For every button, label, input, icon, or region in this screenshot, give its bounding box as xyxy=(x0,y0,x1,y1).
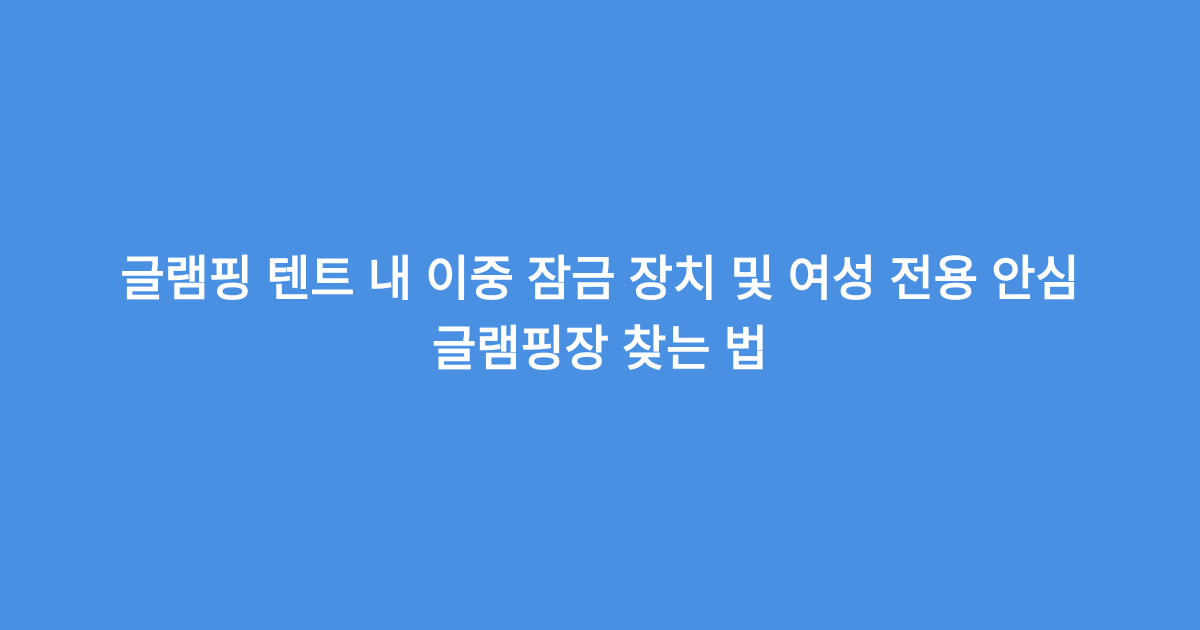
title-line-2: 글램핑장 찾는 법 xyxy=(60,315,1140,385)
title-line-1: 글램핑 텐트 내 이중 잠금 장치 및 여성 전용 안심 xyxy=(60,245,1140,315)
og-card: 글램핑 텐트 내 이중 잠금 장치 및 여성 전용 안심 글램핑장 찾는 법 xyxy=(0,0,1200,630)
page-title: 글램핑 텐트 내 이중 잠금 장치 및 여성 전용 안심 글램핑장 찾는 법 xyxy=(60,245,1140,385)
